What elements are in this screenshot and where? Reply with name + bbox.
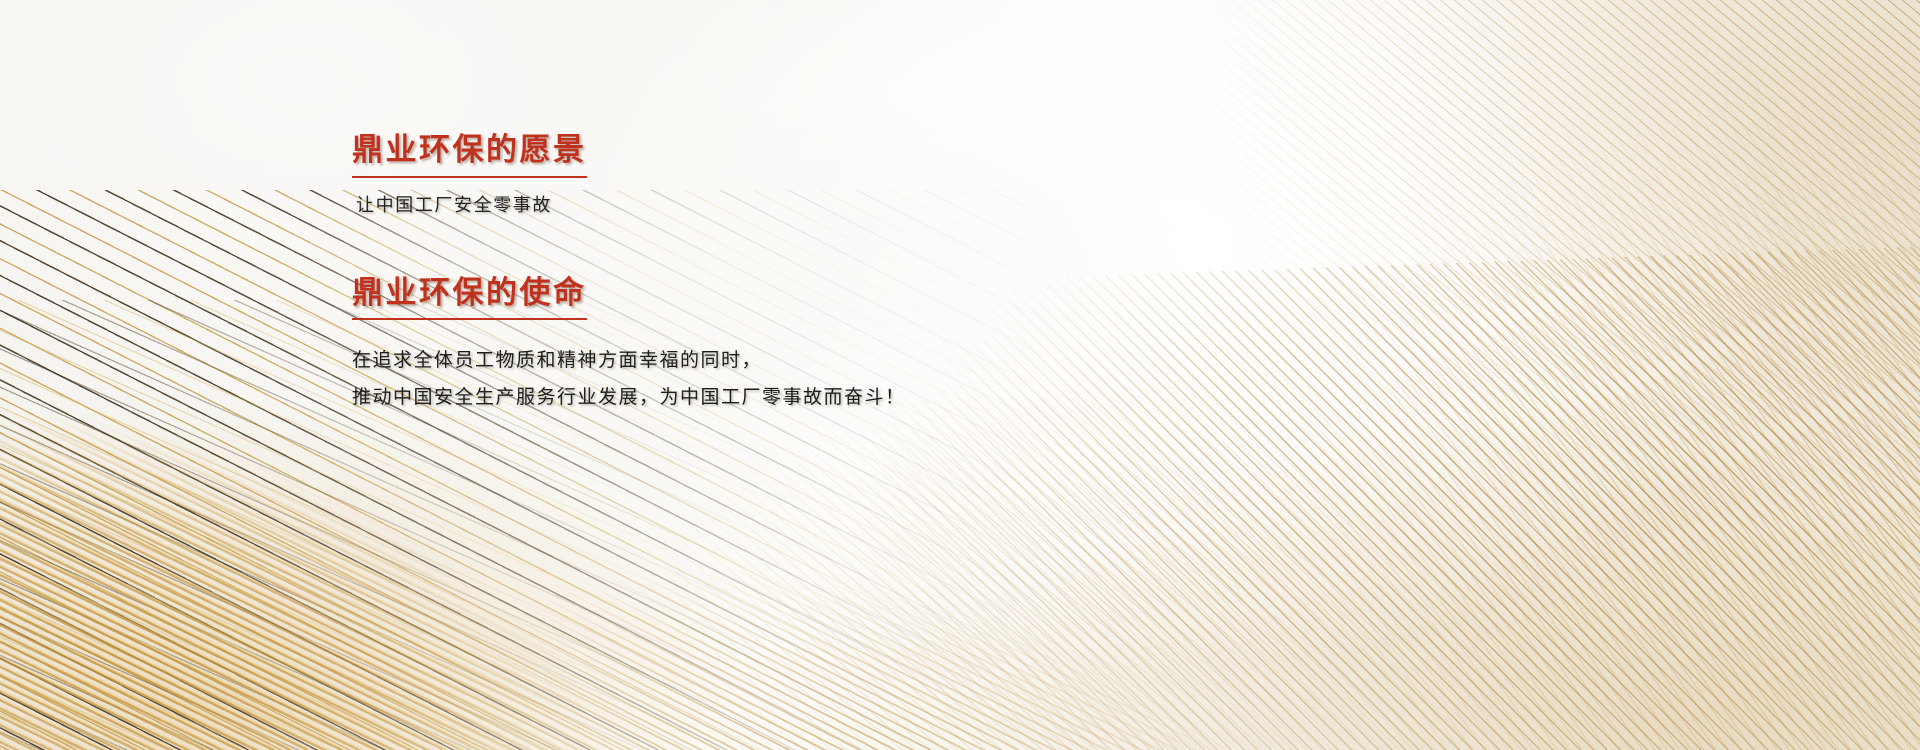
mission-heading: 鼎业环保的使命 [352,275,587,321]
vision-block: 鼎业环保的愿景 让中国工厂安全零事故 [352,132,1352,219]
mission-line-1: 在追求全体员工物质和精神方面幸福的同时， [352,342,1352,379]
vision-mission-banner: 鼎业环保的愿景 让中国工厂安全零事故 鼎业环保的使命 在追求全体员工物质和精神方… [0,0,1920,750]
vision-heading: 鼎业环保的愿景 [352,132,587,178]
vision-subtitle: 让中国工厂安全零事故 [356,192,1352,219]
mission-line-2: 推动中国安全生产服务行业发展，为中国工厂零事故而奋斗！ [352,379,1352,416]
mission-body: 在追求全体员工物质和精神方面幸福的同时， 推动中国安全生产服务行业发展，为中国工… [352,342,1352,416]
banner-content: 鼎业环保的愿景 让中国工厂安全零事故 鼎业环保的使命 在追求全体员工物质和精神方… [352,132,1352,416]
mission-block: 鼎业环保的使命 在追求全体员工物质和精神方面幸福的同时， 推动中国安全生产服务行… [352,275,1352,417]
